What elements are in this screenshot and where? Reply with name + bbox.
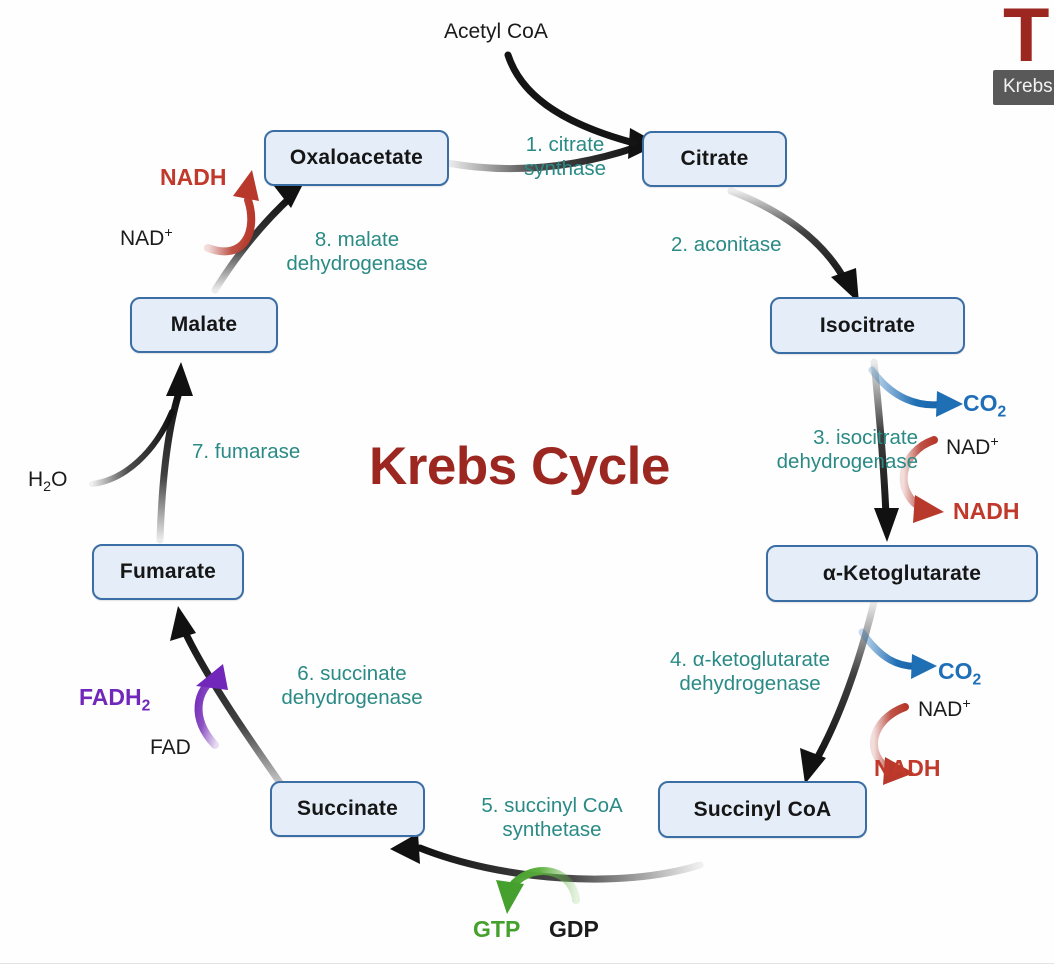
enzyme-label-1-citrate-synthase[interactable]: 1. citrate synthase [500, 133, 630, 180]
metabolite-isocitrate[interactable]: Isocitrate [770, 297, 965, 354]
h2o-subscript: 2 [43, 479, 51, 495]
label-nad-step8: NAD+ [120, 225, 173, 251]
metabolite-alpha-ketoglutarate[interactable]: α-Ketoglutarate [766, 545, 1038, 602]
arrow-h2o-entry [92, 412, 172, 484]
nad-charge: + [990, 434, 998, 450]
corner-partial-title: T [1003, 0, 1048, 74]
label-gdp: GDP [549, 916, 599, 943]
corner-tooltip-label[interactable]: Krebs [993, 70, 1054, 105]
krebs-cycle-diagram: Oxaloacetate Citrate Isocitrate α-Ketogl… [0, 0, 1054, 964]
arrow-co2-step3 [872, 370, 963, 417]
enzyme-label-4-alpha-ketoglutarate-dehydrogenase[interactable]: 4. α-ketoglutarate dehydrogenase [640, 648, 860, 695]
enzyme-label-8-malate-dehydrogenase[interactable]: 8. malate dehydrogenase [266, 228, 448, 275]
label-co2-step4: CO2 [938, 658, 981, 690]
label-acetyl-coa: Acetyl CoA [444, 20, 548, 44]
label-fad: FAD [150, 736, 191, 760]
metabolite-oxaloacetate[interactable]: Oxaloacetate [264, 130, 449, 186]
nad-text: NAD [120, 227, 164, 250]
nad-text: NAD [918, 698, 962, 721]
metabolite-citrate[interactable]: Citrate [642, 131, 787, 187]
co2-subscript: 2 [998, 404, 1007, 421]
label-nadh-step8: NADH [160, 164, 226, 191]
h2o-oxygen: O [51, 468, 67, 491]
nad-charge: + [164, 225, 172, 241]
label-nad-step4: NAD+ [918, 696, 971, 722]
enzyme-label-3-isocitrate-dehydrogenase[interactable]: 3. isocitrate dehydrogenase [680, 426, 918, 473]
label-nad-step3: NAD+ [946, 434, 999, 460]
page-title: Krebs Cycle [369, 436, 670, 497]
enzyme-label-2-aconitase[interactable]: 2. aconitase [671, 233, 871, 257]
label-h2o: H2O [28, 468, 67, 495]
co2-text: CO [938, 658, 973, 684]
label-nadh-step4: NADH [874, 755, 940, 782]
label-fadh2: FADH2 [79, 684, 150, 716]
nad-charge: + [962, 696, 970, 712]
enzyme-label-5-succinyl-coa-synthetase[interactable]: 5. succinyl CoA synthetase [452, 794, 652, 841]
label-co2-step3: CO2 [963, 390, 1006, 422]
metabolite-succinyl-coa[interactable]: Succinyl CoA [658, 781, 867, 838]
fadh2-text: FADH [79, 684, 142, 710]
enzyme-label-6-succinate-dehydrogenase[interactable]: 6. succinate dehydrogenase [252, 662, 452, 709]
enzyme-label-7-fumarase[interactable]: 7. fumarase [192, 440, 342, 464]
fadh2-subscript: 2 [142, 698, 151, 715]
arrow-fumarate-to-malate [160, 362, 193, 540]
nad-text: NAD [946, 436, 990, 459]
h2o-text: H [28, 468, 43, 491]
co2-subscript: 2 [973, 672, 982, 689]
arrow-acetyl-coa-entry [508, 55, 634, 143]
label-nadh-step3: NADH [953, 498, 1019, 525]
arrow-co2-step4 [862, 632, 937, 679]
co2-text: CO [963, 390, 998, 416]
label-gtp: GTP [473, 916, 520, 943]
metabolite-fumarate[interactable]: Fumarate [92, 544, 244, 600]
metabolite-succinate[interactable]: Succinate [270, 781, 425, 837]
metabolite-malate[interactable]: Malate [130, 297, 278, 353]
